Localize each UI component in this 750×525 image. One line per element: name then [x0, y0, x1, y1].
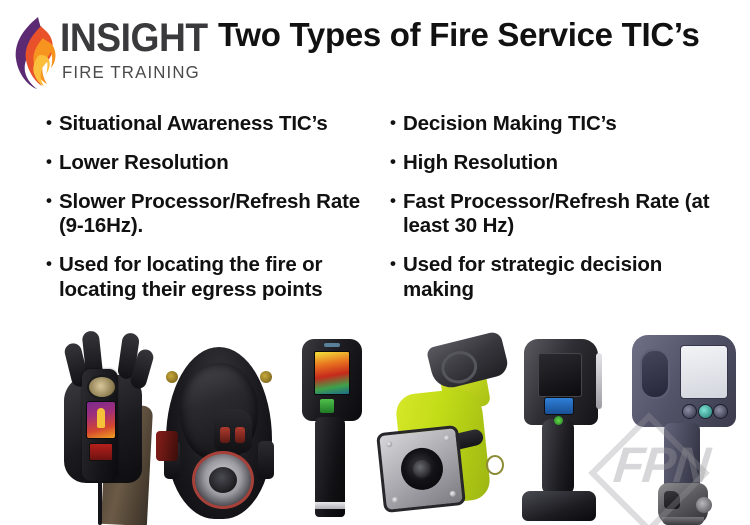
- base-knob: [696, 497, 712, 513]
- scba-facemask-photo: [160, 339, 278, 523]
- bullet-icon: •: [390, 112, 403, 135]
- bullet-columns: • Situational Awareness TIC’s • Lower Re…: [0, 112, 750, 322]
- thermal-figure: [97, 408, 105, 428]
- bullet-icon: •: [46, 253, 59, 276]
- plate-screw: [386, 441, 393, 448]
- tic-head: [524, 339, 598, 425]
- product-photo-row: [0, 322, 750, 525]
- slide-header: INSIGHT FIRE TRAINING Two Types of Fire …: [0, 0, 750, 100]
- decision-making-column: • Decision Making TIC’s • High Resolutio…: [390, 112, 720, 317]
- mask-vent: [220, 427, 230, 443]
- yellow-bullard-tic-photo: [378, 339, 510, 519]
- handle-grip-opening: [438, 347, 481, 387]
- bullet-icon: •: [390, 253, 403, 276]
- bullet-icon: •: [390, 151, 403, 174]
- plate-screw: [392, 497, 399, 504]
- tic-lens-inner: [412, 459, 432, 479]
- tic-lens-array: [682, 401, 728, 421]
- mask-vent: [235, 427, 245, 443]
- tic-lens: [682, 404, 697, 419]
- tic-lens-teal: [698, 404, 713, 419]
- base-rim: [662, 517, 704, 525]
- tic-head: [302, 339, 362, 421]
- flame-icon: [8, 16, 60, 90]
- tic-green-button: [320, 399, 334, 413]
- mask-strap-knob: [166, 371, 178, 383]
- tic-head: [632, 335, 736, 427]
- mask-regulator-port: [192, 451, 254, 509]
- tic-lens-plate: [376, 425, 466, 513]
- tic-display: [538, 353, 582, 397]
- status-led-icon: [554, 416, 563, 425]
- tic-thermal-screen: [86, 401, 116, 439]
- handheld-black-tic-photo: [298, 339, 366, 523]
- tic-red-button: [89, 443, 113, 461]
- tic-lens: [713, 404, 728, 419]
- plate-screw: [444, 435, 451, 442]
- tic-display: [680, 345, 728, 399]
- tic-lens: [87, 375, 117, 399]
- list-item-label: Decision Making TIC’s: [403, 112, 720, 137]
- mask-head-strap: [156, 431, 178, 461]
- dark-gray-tic-photo: [520, 339, 602, 521]
- tic-side-strip: [596, 353, 602, 409]
- compact-tic-body: [82, 369, 118, 481]
- base-latch: [664, 491, 680, 509]
- list-item: • Lower Resolution: [46, 151, 376, 176]
- tic-reflective-band: [315, 502, 345, 509]
- list-item-label: Lower Resolution: [59, 151, 376, 176]
- page-title: Two Types of Fire Service TIC’s: [218, 17, 746, 53]
- logo-tagline: FIRE TRAINING: [62, 64, 200, 82]
- mask-inner-harness: [214, 409, 252, 453]
- list-item: • Used for strategic decision making: [390, 253, 720, 303]
- bullet-icon: •: [390, 190, 403, 213]
- situational-awareness-column: • Situational Awareness TIC’s • Lower Re…: [46, 112, 376, 317]
- insight-fire-training-logo: INSIGHT FIRE TRAINING: [8, 12, 208, 94]
- flir-style-tic-photo: [630, 335, 738, 525]
- tic-lanyard: [98, 477, 102, 525]
- tic-battery-base: [522, 491, 596, 521]
- tic-lanyard-ring: [486, 455, 504, 475]
- tic-hand-strap-opening: [640, 349, 670, 399]
- tic-grip: [315, 417, 345, 517]
- mask-side-buckle: [258, 441, 274, 479]
- list-item-label: Slower Processor/Refresh Rate (9-16Hz).: [59, 190, 376, 240]
- tic-thermal-screen: [314, 351, 350, 395]
- list-item-label: Used for locating the fire or locating t…: [59, 253, 376, 303]
- list-item: • Fast Processor/Refresh Rate (at least …: [390, 190, 720, 240]
- list-item: • High Resolution: [390, 151, 720, 176]
- list-item-label: Used for strategic decision making: [403, 253, 720, 303]
- mask-shell: [166, 347, 272, 519]
- slide-root: INSIGHT FIRE TRAINING Two Types of Fire …: [0, 0, 750, 525]
- tic-top-sensor: [324, 343, 340, 347]
- regulator-inlet: [209, 467, 237, 493]
- mask-strap-knob: [260, 371, 272, 383]
- plate-screw: [449, 491, 456, 498]
- list-item: • Decision Making TIC’s: [390, 112, 720, 137]
- tic-lens: [399, 446, 445, 492]
- list-item: • Used for locating the fire or locating…: [46, 253, 376, 303]
- tic-top-handle: [426, 330, 510, 391]
- tic-grip: [542, 419, 574, 495]
- bullet-icon: •: [46, 151, 59, 174]
- list-item-label: High Resolution: [403, 151, 720, 176]
- mask-visor: [180, 363, 258, 459]
- logo-wordmark: INSIGHT: [60, 18, 208, 58]
- list-item-label: Fast Processor/Refresh Rate (at least 30…: [403, 190, 720, 240]
- list-item: • Situational Awareness TIC’s: [46, 112, 376, 137]
- list-item-label: Situational Awareness TIC’s: [59, 112, 376, 137]
- list-item: • Slower Processor/Refresh Rate (9-16Hz)…: [46, 190, 376, 240]
- bullet-icon: •: [46, 190, 59, 213]
- tic-blue-button: [544, 397, 574, 415]
- tic-battery-base: [658, 483, 708, 525]
- bullet-icon: •: [46, 112, 59, 135]
